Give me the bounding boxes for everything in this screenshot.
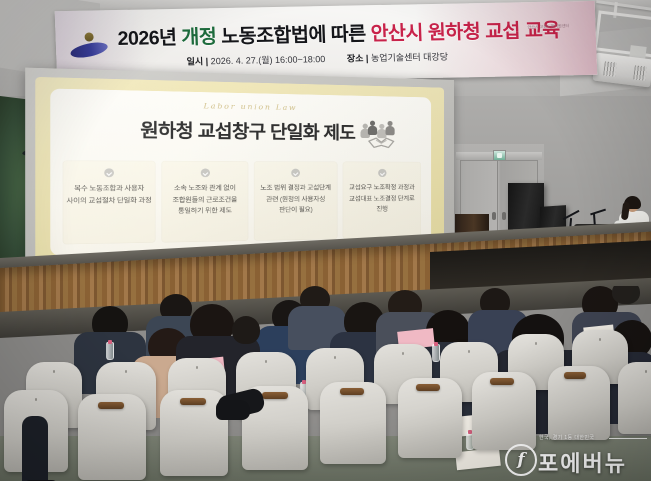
seat-armrest [98,402,124,409]
attendee-head [612,286,640,304]
handshake-icon [368,135,395,152]
slide-column-text: 노조 법위 결정과 교섭단계 관련 (원청의 사용자성 판단이 필요) [254,183,337,217]
slide-columns: 복수 노동조합과 사용자 사이의 교섭절차 단일화 과정 소속 노조와 관계 없… [63,160,421,244]
slide-column: 교섭요구 노조확정 과정과 교섭대표 노조결정 단계로 진행 [342,162,421,240]
seat-armrest [340,388,364,395]
check-icon [378,169,386,177]
banner-subtitle: 일시 | 2026. 4. 27.(월) 16:00~18:00 장소 | 농업… [186,50,448,68]
water-bottle [432,344,440,362]
watermark-tagline: 한국, 경기 1등 대한민국 [539,434,594,441]
watermark-name: 포에버뉴스 [538,446,647,481]
slide-column-text: 소속 노조와 관계 없이 조합원들의 근로조건을 통일하기 위한 제도 [161,184,248,219]
swoosh-logo-icon [67,30,110,57]
door-handle-right[interactable] [502,212,506,220]
attendee-leg [22,416,48,481]
forever-news-logo-icon: f [505,444,537,476]
slide-column: 복수 노동조합과 사용자 사이의 교섭절차 단일화 과정 [63,160,155,244]
banner-title-part-1: 개정 [181,26,222,49]
check-icon [292,169,301,177]
banner-title-part-0: 2026년 [117,27,182,50]
watermark-rule [609,438,647,439]
door-handle-left[interactable] [492,212,496,220]
seat-armrest [180,398,206,405]
people-handshake-icon [360,120,401,153]
seat-armrest [262,392,288,399]
photo-scene: 2026년 개정 노동조합법에 따른 안산시 원하청 교섭 교육 일시 | 20… [0,0,651,481]
exit-sign-icon [493,150,506,161]
slide-column-text: 교섭요구 노조확정 과정과 교섭대표 노조결정 단계로 진행 [342,183,421,216]
slide-column: 소속 노조와 관계 없이 조합원들의 근로조건을 통일하기 위한 제도 [161,161,248,243]
slide-column-text: 복수 노동조합과 사용자 사이의 교섭절차 단일화 과정 [63,184,155,208]
projector-vent-left [603,61,617,76]
banner-date-value: 2026. 4. 27.(월) 16:00~18:00 [211,54,326,66]
auditorium-seat [618,362,651,434]
check-icon [105,168,115,177]
seat-armrest [490,378,514,385]
news-watermark: 한국, 경기 1등 대한민국 f 포에버뉴스 [505,432,647,476]
check-icon [201,169,210,178]
seat-armrest [416,384,440,391]
banner-place-value: 농업기술센터 대강당 [371,52,448,63]
slide-column: 노조 법위 결정과 교섭단계 관련 (원청의 사용자성 판단이 필요) [254,161,337,241]
attendee-head [232,316,260,344]
slide-script-tagline: Labor union Law [50,99,431,115]
projector-vent-right [633,65,647,80]
attendee-shoe [216,400,250,420]
logo-dot [84,32,93,41]
banner-title-part-2: 노동조합법에 따른 [221,23,371,48]
slide-body: Labor union Law 원하청 교섭창구 단일화 제도 [50,89,431,256]
banner-place-label: 장소 | [347,53,369,63]
banner-date-label: 일시 | [186,56,208,66]
water-bottle [106,342,114,360]
seat-armrest [564,372,586,379]
